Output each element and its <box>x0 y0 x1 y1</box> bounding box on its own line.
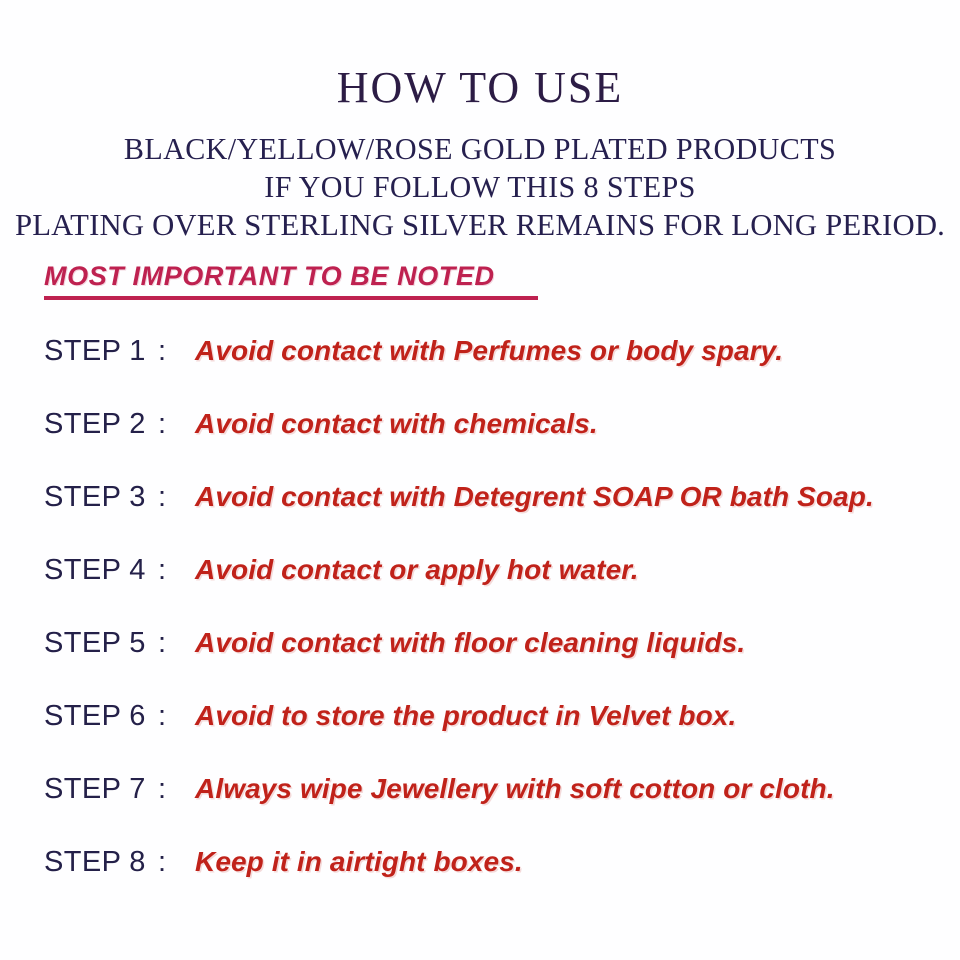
step-text: Avoid contact with chemicals. <box>195 408 598 440</box>
step-label: STEP 8 <box>44 846 158 879</box>
notice-heading-block: MOST IMPORTANT TO BE NOTED <box>44 262 538 300</box>
step-label: STEP 6 <box>44 700 158 733</box>
step-label: STEP 3 <box>44 481 158 514</box>
step-text: Avoid to store the product in Velvet box… <box>195 700 736 732</box>
step-text: Keep it in airtight boxes. <box>195 846 523 878</box>
step-label: STEP 5 <box>44 627 158 660</box>
step-separator: : <box>158 335 195 368</box>
step-row: STEP 6 : Avoid to store the product in V… <box>44 700 944 773</box>
step-text: Always wipe Jewellery with soft cotton o… <box>195 773 835 805</box>
step-text: Avoid contact with Detegrent SOAP OR bat… <box>195 481 874 513</box>
step-row: STEP 4 : Avoid contact or apply hot wate… <box>44 554 944 627</box>
step-row: STEP 1 : Avoid contact with Perfumes or … <box>44 335 944 408</box>
step-row: STEP 2 : Avoid contact with chemicals. <box>44 408 944 481</box>
step-row: STEP 3 : Avoid contact with Detegrent SO… <box>44 481 944 554</box>
notice-underline <box>44 296 538 300</box>
subtitle-block: BLACK/YELLOW/ROSE GOLD PLATED PRODUCTS I… <box>0 110 960 243</box>
step-separator: : <box>158 627 195 660</box>
step-label: STEP 4 <box>44 554 158 587</box>
poster-header: HOW TO USE BLACK/YELLOW/ROSE GOLD PLATED… <box>0 0 960 243</box>
step-separator: : <box>158 408 195 441</box>
step-separator: : <box>158 773 195 806</box>
step-separator: : <box>158 481 195 514</box>
instruction-poster: HOW TO USE BLACK/YELLOW/ROSE GOLD PLATED… <box>0 0 960 960</box>
step-row: STEP 7 : Always wipe Jewellery with soft… <box>44 773 944 846</box>
step-text: Avoid contact with floor cleaning liquid… <box>195 627 745 659</box>
step-row: STEP 5 : Avoid contact with floor cleani… <box>44 627 944 700</box>
subtitle-line-2: IF YOU FOLLOW THIS 8 STEPS <box>14 168 945 206</box>
step-label: STEP 7 <box>44 773 158 806</box>
step-separator: : <box>158 554 195 587</box>
step-text: Avoid contact with Perfumes or body spar… <box>195 335 783 367</box>
step-separator: : <box>158 700 195 733</box>
step-separator: : <box>158 846 195 879</box>
steps-list: STEP 1 : Avoid contact with Perfumes or … <box>44 335 944 919</box>
subtitle-line-1: BLACK/YELLOW/ROSE GOLD PLATED PRODUCTS <box>14 130 945 168</box>
step-label: STEP 2 <box>44 408 158 441</box>
step-text: Avoid contact or apply hot water. <box>195 554 639 586</box>
subtitle-line-3: PLATING OVER STERLING SILVER REMAINS FOR… <box>5 206 955 244</box>
step-row: STEP 8 : Keep it in airtight boxes. <box>44 846 944 919</box>
notice-heading: MOST IMPORTANT TO BE NOTED <box>44 262 495 290</box>
page-title: HOW TO USE <box>0 0 960 110</box>
step-label: STEP 1 <box>44 335 158 368</box>
